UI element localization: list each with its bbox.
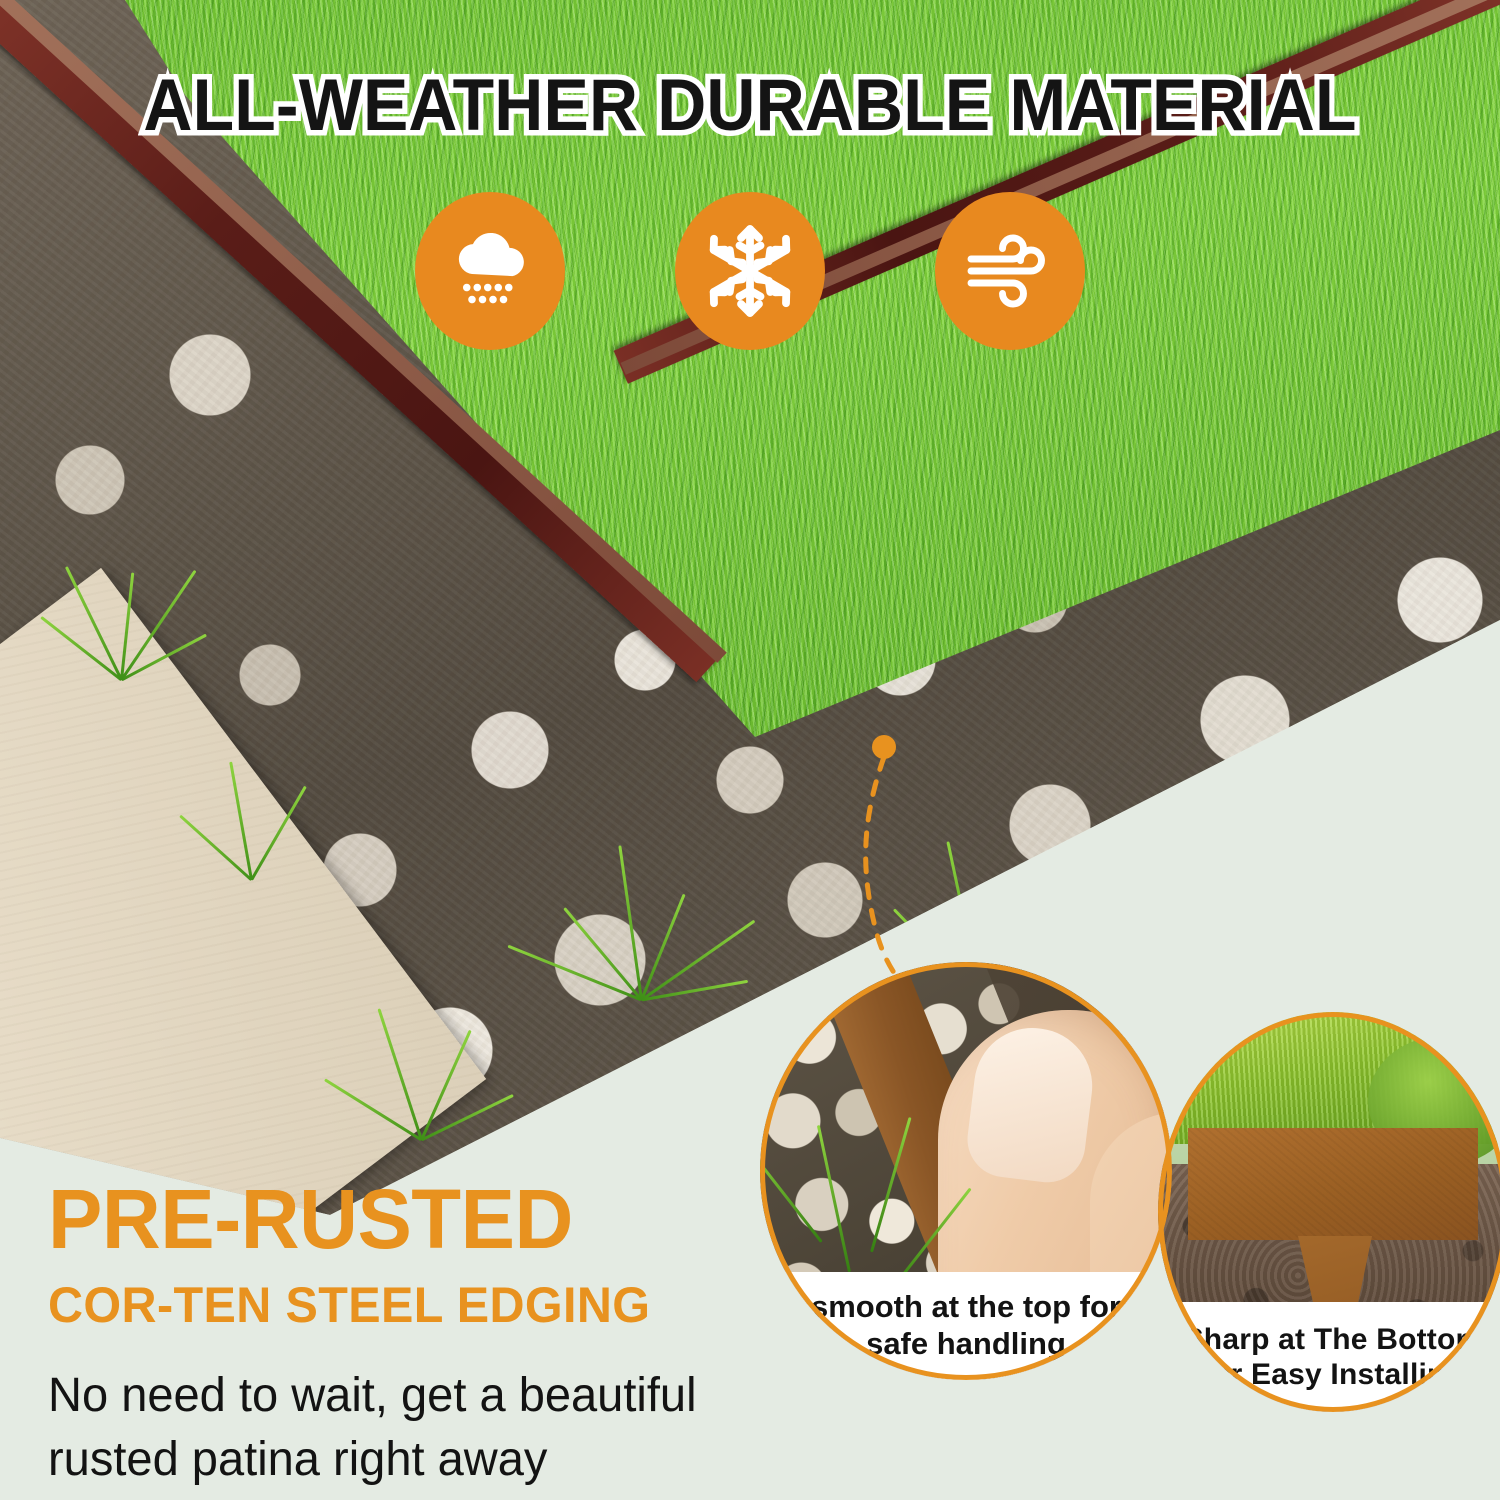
product-infographic: ALL-WEATHER DURABLE MATERIAL <box>0 0 1500 1500</box>
caption-line-1: smooth at the top for <box>811 1289 1121 1324</box>
weather-badge-row <box>0 192 1500 350</box>
badge-wind[interactable] <box>935 192 1085 350</box>
rust-texture <box>1188 1128 1478 1240</box>
wind-icon <box>962 223 1058 319</box>
page-title: ALL-WEATHER DURABLE MATERIAL <box>53 64 1448 147</box>
inset-caption: smooth at the top for safe handling <box>760 1272 1172 1380</box>
promo-text-block: PRE-RUSTED COR-TEN STEEL EDGING No need … <box>48 1178 808 1491</box>
rain-cloud-icon <box>442 223 538 319</box>
snowflake-icon <box>702 223 798 319</box>
promo-body-text: No need to wait, get a beautiful rusted … <box>48 1364 773 1491</box>
promo-title: PRE-RUSTED <box>48 1178 785 1260</box>
caption-line-1: Sharp at The Bottom <box>1184 1323 1483 1356</box>
promo-subtitle: COR-TEN STEEL EDGING <box>48 1276 785 1334</box>
badge-rain[interactable] <box>415 192 565 350</box>
caption-line-2: for Easy Installing <box>1202 1358 1464 1391</box>
rust-steel-t-profile-top <box>1188 1128 1478 1240</box>
inset-sharp-bottom[interactable]: Sharp at The Bottom for Easy Installing <box>1158 1012 1500 1412</box>
inset-smooth-top[interactable]: smooth at the top for safe handling <box>760 962 1172 1380</box>
badge-snow[interactable] <box>675 192 825 350</box>
caption-line-2: safe handling <box>866 1326 1066 1361</box>
inset-caption: Sharp at The Bottom for Easy Installing <box>1158 1302 1500 1412</box>
